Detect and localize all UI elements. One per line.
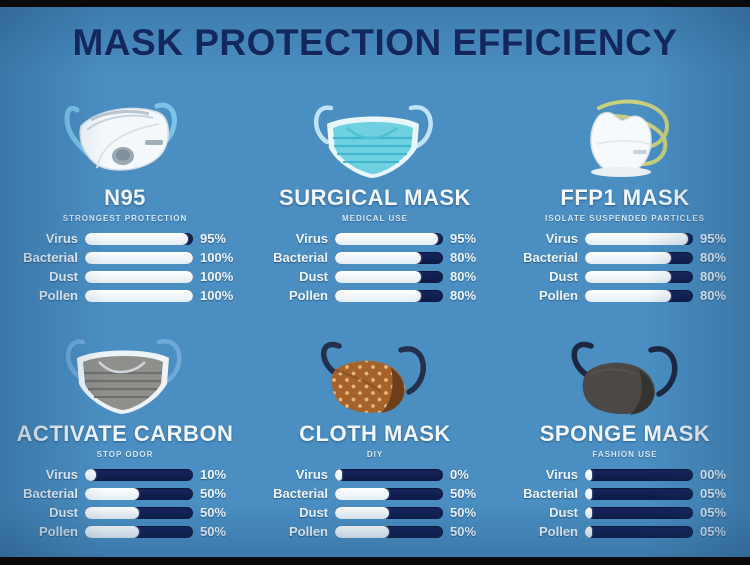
efficiency-row-value: 100%	[193, 251, 233, 264]
efficiency-bar-fill	[85, 526, 139, 538]
efficiency-row: Dust100%	[11, 268, 239, 285]
efficiency-row: Pollen100%	[11, 287, 239, 304]
efficiency-row-value: 05%	[693, 525, 726, 538]
efficiency-row-label: Virus	[11, 468, 85, 481]
efficiency-row: Bacterial50%	[11, 485, 239, 502]
efficiency-row: Virus95%	[511, 230, 739, 247]
efficiency-row: Dust05%	[511, 504, 739, 521]
efficiency-row-value: 00%	[693, 468, 726, 481]
efficiency-row-value: 80%	[693, 289, 726, 302]
efficiency-row-value: 50%	[193, 506, 226, 519]
mask-card-title: SURGICAL MASK	[279, 187, 471, 209]
efficiency-row-label: Bacterial	[11, 487, 85, 500]
efficiency-bar-track	[85, 526, 193, 538]
efficiency-bar-track	[335, 469, 443, 481]
mask-card-subtitle: FASHION USE	[592, 450, 657, 459]
efficiency-bar-fill	[585, 488, 592, 500]
efficiency-row-value: 95%	[443, 232, 476, 245]
efficiency-row: Bacterial50%	[261, 485, 489, 502]
efficiency-row: Dust50%	[11, 504, 239, 521]
efficiency-bar-fill	[585, 290, 671, 302]
efficiency-bar-fill	[585, 469, 592, 481]
n95-respirator-icon	[35, 82, 215, 184]
efficiency-bar-fill	[335, 252, 421, 264]
efficiency-bar-track	[585, 507, 693, 519]
efficiency-row-label: Bacterial	[11, 251, 85, 264]
efficiency-bar-fill	[585, 252, 671, 264]
page-title: MASK PROTECTION EFFICIENCY	[0, 22, 750, 64]
efficiency-bar-fill	[585, 233, 688, 245]
efficiency-bar-track	[585, 526, 693, 538]
efficiency-row-label: Dust	[511, 506, 585, 519]
efficiency-bar-track	[585, 488, 693, 500]
efficiency-row: Dust50%	[261, 504, 489, 521]
efficiency-row-list: Virus95%Bacterial100%Dust100%Pollen100%	[11, 230, 239, 306]
efficiency-bar-track	[85, 469, 193, 481]
efficiency-row: Dust80%	[261, 268, 489, 285]
efficiency-row-label: Dust	[511, 270, 585, 283]
efficiency-row-label: Dust	[11, 270, 85, 283]
efficiency-bar-fill	[85, 488, 139, 500]
efficiency-row: Pollen50%	[11, 523, 239, 540]
efficiency-row-label: Dust	[11, 506, 85, 519]
mask-card-title: FFP1 MASK	[560, 187, 689, 209]
efficiency-bar-fill	[335, 469, 342, 481]
efficiency-bar-track	[585, 469, 693, 481]
mask-card-subtitle: ISOLATE SUSPENDED PARTICLES	[545, 214, 705, 223]
efficiency-row-value: 80%	[443, 270, 476, 283]
efficiency-row-value: 95%	[693, 232, 726, 245]
efficiency-row: Bacterial80%	[511, 249, 739, 266]
efficiency-row-label: Dust	[261, 270, 335, 283]
mask-card-subtitle: STOP ODOR	[97, 450, 154, 459]
efficiency-row-value: 100%	[193, 270, 233, 283]
mask-card-title: ACTIVATE CARBON	[17, 423, 234, 445]
efficiency-row-label: Pollen	[11, 525, 85, 538]
efficiency-row: Virus95%	[11, 230, 239, 247]
efficiency-bar-fill	[85, 469, 96, 481]
efficiency-row-list: Virus00%Bacterial05%Dust05%Pollen05%	[511, 466, 739, 542]
efficiency-bar-track	[85, 488, 193, 500]
sponge-mask-icon	[535, 318, 715, 420]
efficiency-bar-fill	[85, 252, 193, 264]
efficiency-row: Virus0%	[261, 466, 489, 483]
efficiency-row: Pollen80%	[511, 287, 739, 304]
efficiency-bar-fill	[335, 488, 389, 500]
ffp1-cone-mask-icon	[535, 82, 715, 184]
efficiency-row: Bacterial05%	[511, 485, 739, 502]
efficiency-bar-track	[335, 488, 443, 500]
efficiency-bar-track	[85, 290, 193, 302]
mask-card-surgical: SURGICAL MASKMEDICAL USEVirus95%Bacteria…	[250, 78, 500, 314]
efficiency-row-value: 50%	[443, 487, 476, 500]
efficiency-row-list: Virus0%Bacterial50%Dust50%Pollen50%	[261, 466, 489, 542]
efficiency-row-list: Virus10%Bacterial50%Dust50%Pollen50%	[11, 466, 239, 542]
efficiency-bar-track	[585, 233, 693, 245]
efficiency-bar-fill	[85, 507, 139, 519]
efficiency-bar-fill	[335, 271, 421, 283]
mask-card-subtitle: DIY	[367, 450, 383, 459]
efficiency-row-value: 05%	[693, 487, 726, 500]
efficiency-row-label: Virus	[11, 232, 85, 245]
efficiency-row: Bacterial100%	[11, 249, 239, 266]
mask-card-activate-carbon: ACTIVATE CARBONSTOP ODORVirus10%Bacteria…	[0, 314, 250, 550]
efficiency-row: Pollen80%	[261, 287, 489, 304]
mask-card-sponge: SPONGE MASKFASHION USEVirus00%Bacterial0…	[500, 314, 750, 550]
efficiency-bar-fill	[585, 507, 592, 519]
efficiency-bar-track	[335, 290, 443, 302]
efficiency-row: Bacterial80%	[261, 249, 489, 266]
efficiency-row-label: Pollen	[511, 289, 585, 302]
efficiency-bar-fill	[85, 233, 188, 245]
efficiency-row-value: 50%	[443, 525, 476, 538]
efficiency-bar-fill	[85, 290, 193, 302]
activated-carbon-mask-icon	[35, 318, 215, 420]
efficiency-bar-track	[335, 233, 443, 245]
efficiency-bar-track	[335, 252, 443, 264]
mask-efficiency-infographic: MASK PROTECTION EFFICIENCY N95STRONGEST …	[0, 0, 750, 565]
efficiency-row-value: 05%	[693, 506, 726, 519]
efficiency-bar-track	[585, 252, 693, 264]
efficiency-bar-fill	[585, 271, 671, 283]
efficiency-bar-fill	[335, 526, 389, 538]
mask-card-title: N95	[104, 187, 146, 209]
bottom-border-band	[0, 557, 750, 565]
efficiency-row-label: Bacterial	[511, 251, 585, 264]
top-border-band	[0, 0, 750, 7]
mask-card-ffp1: FFP1 MASKISOLATE SUSPENDED PARTICLESViru…	[500, 78, 750, 314]
efficiency-row-label: Virus	[261, 232, 335, 245]
surgical-mask-icon	[285, 82, 465, 184]
efficiency-row-value: 50%	[193, 525, 226, 538]
efficiency-bar-track	[85, 507, 193, 519]
cloth-mask-icon	[285, 318, 465, 420]
mask-card-subtitle: STRONGEST PROTECTION	[63, 214, 187, 223]
efficiency-row-value: 50%	[443, 506, 476, 519]
mask-card-title: CLOTH MASK	[299, 423, 451, 445]
efficiency-row-value: 100%	[193, 289, 233, 302]
efficiency-bar-fill	[335, 233, 438, 245]
efficiency-row: Virus95%	[261, 230, 489, 247]
mask-card-subtitle: MEDICAL USE	[342, 214, 408, 223]
efficiency-row-label: Pollen	[261, 289, 335, 302]
efficiency-row-label: Bacterial	[261, 251, 335, 264]
efficiency-row-label: Bacterial	[511, 487, 585, 500]
efficiency-row-value: 80%	[693, 270, 726, 283]
efficiency-row-label: Bacterial	[261, 487, 335, 500]
efficiency-row-label: Pollen	[511, 525, 585, 538]
efficiency-row-list: Virus95%Bacterial80%Dust80%Pollen80%	[261, 230, 489, 306]
efficiency-bar-track	[585, 271, 693, 283]
efficiency-row-value: 80%	[443, 251, 476, 264]
mask-card-grid: N95STRONGEST PROTECTIONVirus95%Bacterial…	[0, 78, 750, 550]
efficiency-row-value: 80%	[693, 251, 726, 264]
efficiency-bar-track	[335, 507, 443, 519]
mask-card-n95: N95STRONGEST PROTECTIONVirus95%Bacterial…	[0, 78, 250, 314]
efficiency-row-label: Virus	[261, 468, 335, 481]
efficiency-row: Pollen50%	[261, 523, 489, 540]
efficiency-bar-track	[85, 252, 193, 264]
mask-card-title: SPONGE MASK	[540, 423, 711, 445]
efficiency-bar-track	[585, 290, 693, 302]
efficiency-row-value: 10%	[193, 468, 226, 481]
efficiency-row-label: Pollen	[261, 525, 335, 538]
efficiency-row: Pollen05%	[511, 523, 739, 540]
efficiency-row-value: 50%	[193, 487, 226, 500]
efficiency-row-label: Dust	[261, 506, 335, 519]
efficiency-bar-fill	[85, 271, 193, 283]
efficiency-row-value: 0%	[443, 468, 469, 481]
efficiency-row-list: Virus95%Bacterial80%Dust80%Pollen80%	[511, 230, 739, 306]
efficiency-row-label: Pollen	[11, 289, 85, 302]
efficiency-row-value: 95%	[193, 232, 226, 245]
efficiency-row-label: Virus	[511, 468, 585, 481]
efficiency-row: Virus10%	[11, 466, 239, 483]
efficiency-row-label: Virus	[511, 232, 585, 245]
efficiency-bar-track	[335, 526, 443, 538]
efficiency-row-value: 80%	[443, 289, 476, 302]
efficiency-bar-track	[85, 271, 193, 283]
efficiency-bar-track	[335, 271, 443, 283]
efficiency-bar-fill	[585, 526, 592, 538]
efficiency-row: Virus00%	[511, 466, 739, 483]
efficiency-row: Dust80%	[511, 268, 739, 285]
mask-card-cloth: CLOTH MASKDIYVirus0%Bacterial50%Dust50%P…	[250, 314, 500, 550]
efficiency-bar-track	[85, 233, 193, 245]
efficiency-bar-fill	[335, 290, 421, 302]
efficiency-bar-fill	[335, 507, 389, 519]
